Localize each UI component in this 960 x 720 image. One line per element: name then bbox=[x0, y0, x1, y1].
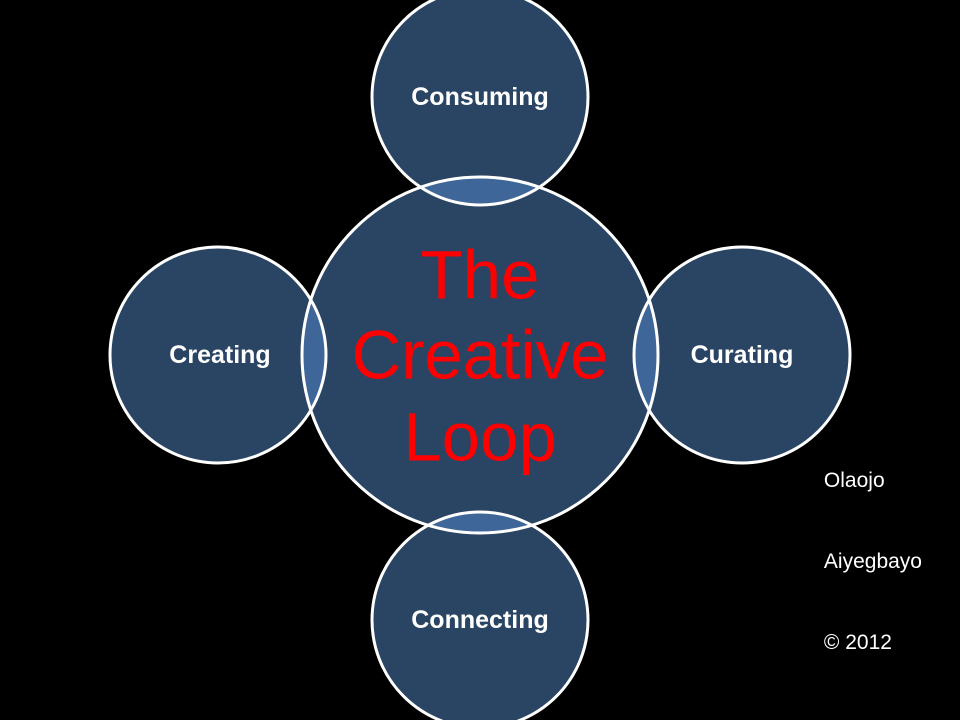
slide-canvas: Consuming Curating Connecting Creating T… bbox=[0, 0, 960, 720]
credit-author-last: Aiyegbayo bbox=[824, 548, 922, 575]
credit-author-first: Olaojo bbox=[824, 467, 922, 494]
creative-loop-venn-diagram: Consuming Curating Connecting Creating T… bbox=[0, 0, 960, 720]
center-label-line-2: Creative bbox=[352, 317, 609, 394]
node-label-creating: Creating bbox=[169, 341, 270, 369]
credit-copyright: © 2012 bbox=[824, 629, 922, 656]
node-label-curating: Curating bbox=[691, 341, 794, 369]
node-label-connecting: Connecting bbox=[411, 606, 549, 634]
center-label-line-1: The bbox=[421, 237, 540, 314]
credit-block: Olaojo Aiyegbayo © 2012 bbox=[824, 413, 922, 710]
center-label-line-3: Loop bbox=[403, 399, 557, 476]
node-label-consuming: Consuming bbox=[411, 83, 549, 111]
